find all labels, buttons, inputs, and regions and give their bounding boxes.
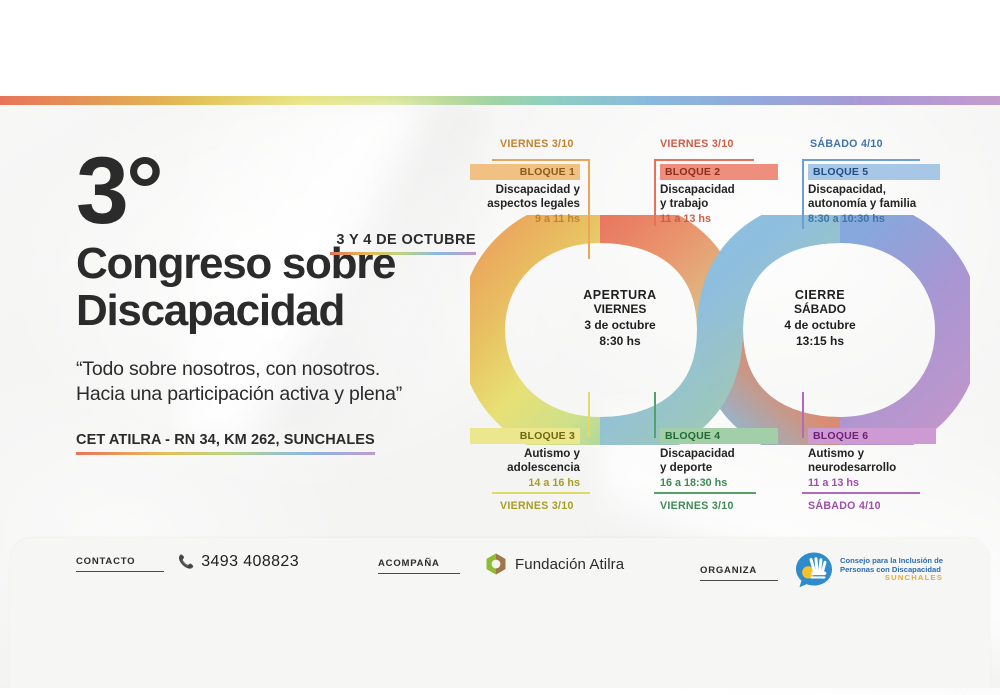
footer-panel: CONTACTO 📞 3493 408823 ACOMPAÑA Fu bbox=[10, 538, 990, 688]
fundacion-atilra-logo bbox=[484, 552, 508, 576]
block-3-hours: 14 a 16 hs bbox=[470, 477, 580, 489]
block-4-title-line1: Discapacidad bbox=[660, 447, 778, 461]
organizer-label: ORGANIZA bbox=[700, 565, 778, 576]
block-3-day: VIERNES 3/10 bbox=[500, 500, 574, 512]
slogan-line2: Hacia una participación activa y plena” bbox=[76, 382, 476, 408]
block-6-bottom-rule bbox=[802, 492, 920, 494]
organizer-name-line3: SUNCHALES bbox=[840, 574, 943, 583]
top-white-band bbox=[0, 0, 1000, 96]
sponsor-label-rule bbox=[378, 573, 460, 574]
block-2-hours: 11 a 13 hs bbox=[660, 213, 778, 225]
closing-title: CIERRE bbox=[736, 288, 904, 302]
organizer-logo-group[interactable]: Consejo para la Inclusión de Personas co… bbox=[794, 551, 943, 589]
block-4-tag: BLOQUE 4 bbox=[660, 428, 778, 444]
rainbow-divider-bar bbox=[0, 96, 1000, 105]
opening-time: 8:30 hs bbox=[536, 334, 704, 350]
organizer-label-wrap: ORGANIZA bbox=[700, 565, 778, 581]
block-3-tag: BLOQUE 3 bbox=[470, 428, 580, 444]
block-5-card: BLOQUE 5 Discapacidad, autonomía y famil… bbox=[808, 164, 940, 225]
block-1-top-rule bbox=[492, 159, 590, 161]
contact-label: CONTACTO bbox=[76, 556, 164, 567]
block-2-top-rule bbox=[654, 159, 754, 161]
block-3-bottom-rule bbox=[492, 492, 590, 494]
block-2-title-line1: Discapacidad bbox=[660, 183, 778, 197]
block-3-connector bbox=[588, 392, 590, 438]
closing-time: 13:15 hs bbox=[736, 334, 904, 350]
closing-day: SÁBADO bbox=[736, 302, 904, 318]
opening-date: 3 de octubre bbox=[536, 318, 704, 334]
block-2-connector bbox=[654, 159, 656, 226]
block-2-title-line2: y trabajo bbox=[660, 197, 778, 211]
block-2-tag: BLOQUE 2 bbox=[660, 164, 778, 180]
organizer-group: ORGANIZA Consejo par bbox=[700, 556, 943, 589]
poster-canvas: 3° 3 Y 4 DE OCTUBRE Congreso sobre Disca… bbox=[0, 0, 1000, 688]
block-5-hours: 8:30 a 10:30 hs bbox=[808, 213, 940, 225]
block-5-connector bbox=[802, 159, 804, 229]
block-4-title-line2: y deporte bbox=[660, 461, 778, 475]
contact-group: CONTACTO 📞 3493 408823 bbox=[76, 556, 299, 572]
block-6-tag: BLOQUE 6 bbox=[808, 428, 936, 444]
block-3-title-line2: adolescencia bbox=[470, 461, 580, 475]
sponsor-label-wrap: ACOMPAÑA bbox=[378, 558, 460, 574]
date-badge-rainbow-rule bbox=[330, 252, 476, 255]
sponsor-name[interactable]: Fundación Atilra bbox=[515, 556, 624, 573]
opening-day: VIERNES bbox=[536, 302, 704, 318]
edition-number: 3° bbox=[76, 150, 476, 234]
program-infinity-diagram: APERTURA VIERNES 3 de octubre 8:30 hs CI… bbox=[470, 120, 970, 530]
block-6-hours: 11 a 13 hs bbox=[808, 477, 936, 489]
sponsor-label: ACOMPAÑA bbox=[378, 558, 460, 569]
block-3-card: BLOQUE 3 Autismo y adolescencia 14 a 16 … bbox=[470, 428, 588, 489]
consejo-inclusion-logo bbox=[794, 551, 834, 589]
block-1-card: BLOQUE 1 Discapacidad y aspectos legales… bbox=[470, 164, 588, 225]
date-badge-label: 3 Y 4 DE OCTUBRE bbox=[330, 232, 476, 248]
block-4-bottom-rule bbox=[654, 492, 756, 494]
block-3-title-line1: Autismo y bbox=[470, 447, 580, 461]
sponsor-group: ACOMPAÑA Fundación Atilra bbox=[378, 556, 624, 576]
sponsor-logo-group[interactable]: Fundación Atilra bbox=[484, 552, 624, 576]
closing-node: CIERRE SÁBADO 4 de octubre 13:15 hs bbox=[736, 288, 904, 350]
slogan-line1: “Todo sobre nosotros, con nosotros. bbox=[76, 357, 476, 383]
block-6-title-line2: neurodesarrollo bbox=[808, 461, 936, 475]
contact-label-rule bbox=[76, 571, 164, 572]
block-5-title-line2: autonomía y familia bbox=[808, 197, 940, 211]
phone-icon: 📞 bbox=[178, 554, 194, 570]
headline-column: 3° 3 Y 4 DE OCTUBRE Congreso sobre Disca… bbox=[76, 150, 476, 455]
block-6-connector bbox=[802, 392, 804, 438]
venue-rainbow-rule bbox=[76, 452, 375, 455]
opening-node: APERTURA VIERNES 3 de octubre 8:30 hs bbox=[536, 288, 704, 350]
block-5-tag: BLOQUE 5 bbox=[808, 164, 940, 180]
organizer-label-rule bbox=[700, 580, 778, 581]
block-4-card: BLOQUE 4 Discapacidad y deporte 16 a 18:… bbox=[660, 428, 778, 489]
phone-number[interactable]: 3493 408823 bbox=[201, 553, 299, 571]
page-title-line2: Discapacidad bbox=[76, 287, 476, 335]
closing-date: 4 de octubre bbox=[736, 318, 904, 334]
block-5-title-line1: Discapacidad, bbox=[808, 183, 940, 197]
slogan-quote: “Todo sobre nosotros, con nosotros. Haci… bbox=[76, 357, 476, 408]
venue-block: CET ATILRA - RN 34, KM 262, SUNCHALES bbox=[76, 432, 375, 455]
opening-title: APERTURA bbox=[536, 288, 704, 302]
block-5-day: SÁBADO 4/10 bbox=[810, 138, 883, 150]
phone-group[interactable]: 📞 3493 408823 bbox=[178, 553, 299, 571]
block-1-title-line2: aspectos legales bbox=[470, 197, 580, 211]
block-1-title-line1: Discapacidad y bbox=[470, 183, 580, 197]
block-6-day: SÁBADO 4/10 bbox=[808, 500, 881, 512]
date-badge: 3 Y 4 DE OCTUBRE bbox=[330, 232, 476, 255]
block-1-hours: 9 a 11 hs bbox=[470, 213, 580, 225]
block-1-day: VIERNES 3/10 bbox=[500, 138, 574, 150]
block-6-title-line1: Autismo y bbox=[808, 447, 936, 461]
contact-label-wrap: CONTACTO bbox=[76, 556, 164, 572]
block-4-connector bbox=[654, 392, 656, 438]
block-4-hours: 16 a 18:30 hs bbox=[660, 477, 778, 489]
block-5-top-rule bbox=[802, 159, 920, 161]
block-2-card: BLOQUE 2 Discapacidad y trabajo 11 a 13 … bbox=[660, 164, 778, 225]
block-4-day: VIERNES 3/10 bbox=[660, 500, 734, 512]
organizer-name: Consejo para la Inclusión de Personas co… bbox=[840, 557, 943, 583]
venue-label: CET ATILRA - RN 34, KM 262, SUNCHALES bbox=[76, 432, 375, 448]
block-1-connector bbox=[588, 159, 590, 259]
block-1-tag: BLOQUE 1 bbox=[470, 164, 580, 180]
block-2-day: VIERNES 3/10 bbox=[660, 138, 734, 150]
block-6-card: BLOQUE 6 Autismo y neurodesarrollo 11 a … bbox=[808, 428, 936, 489]
